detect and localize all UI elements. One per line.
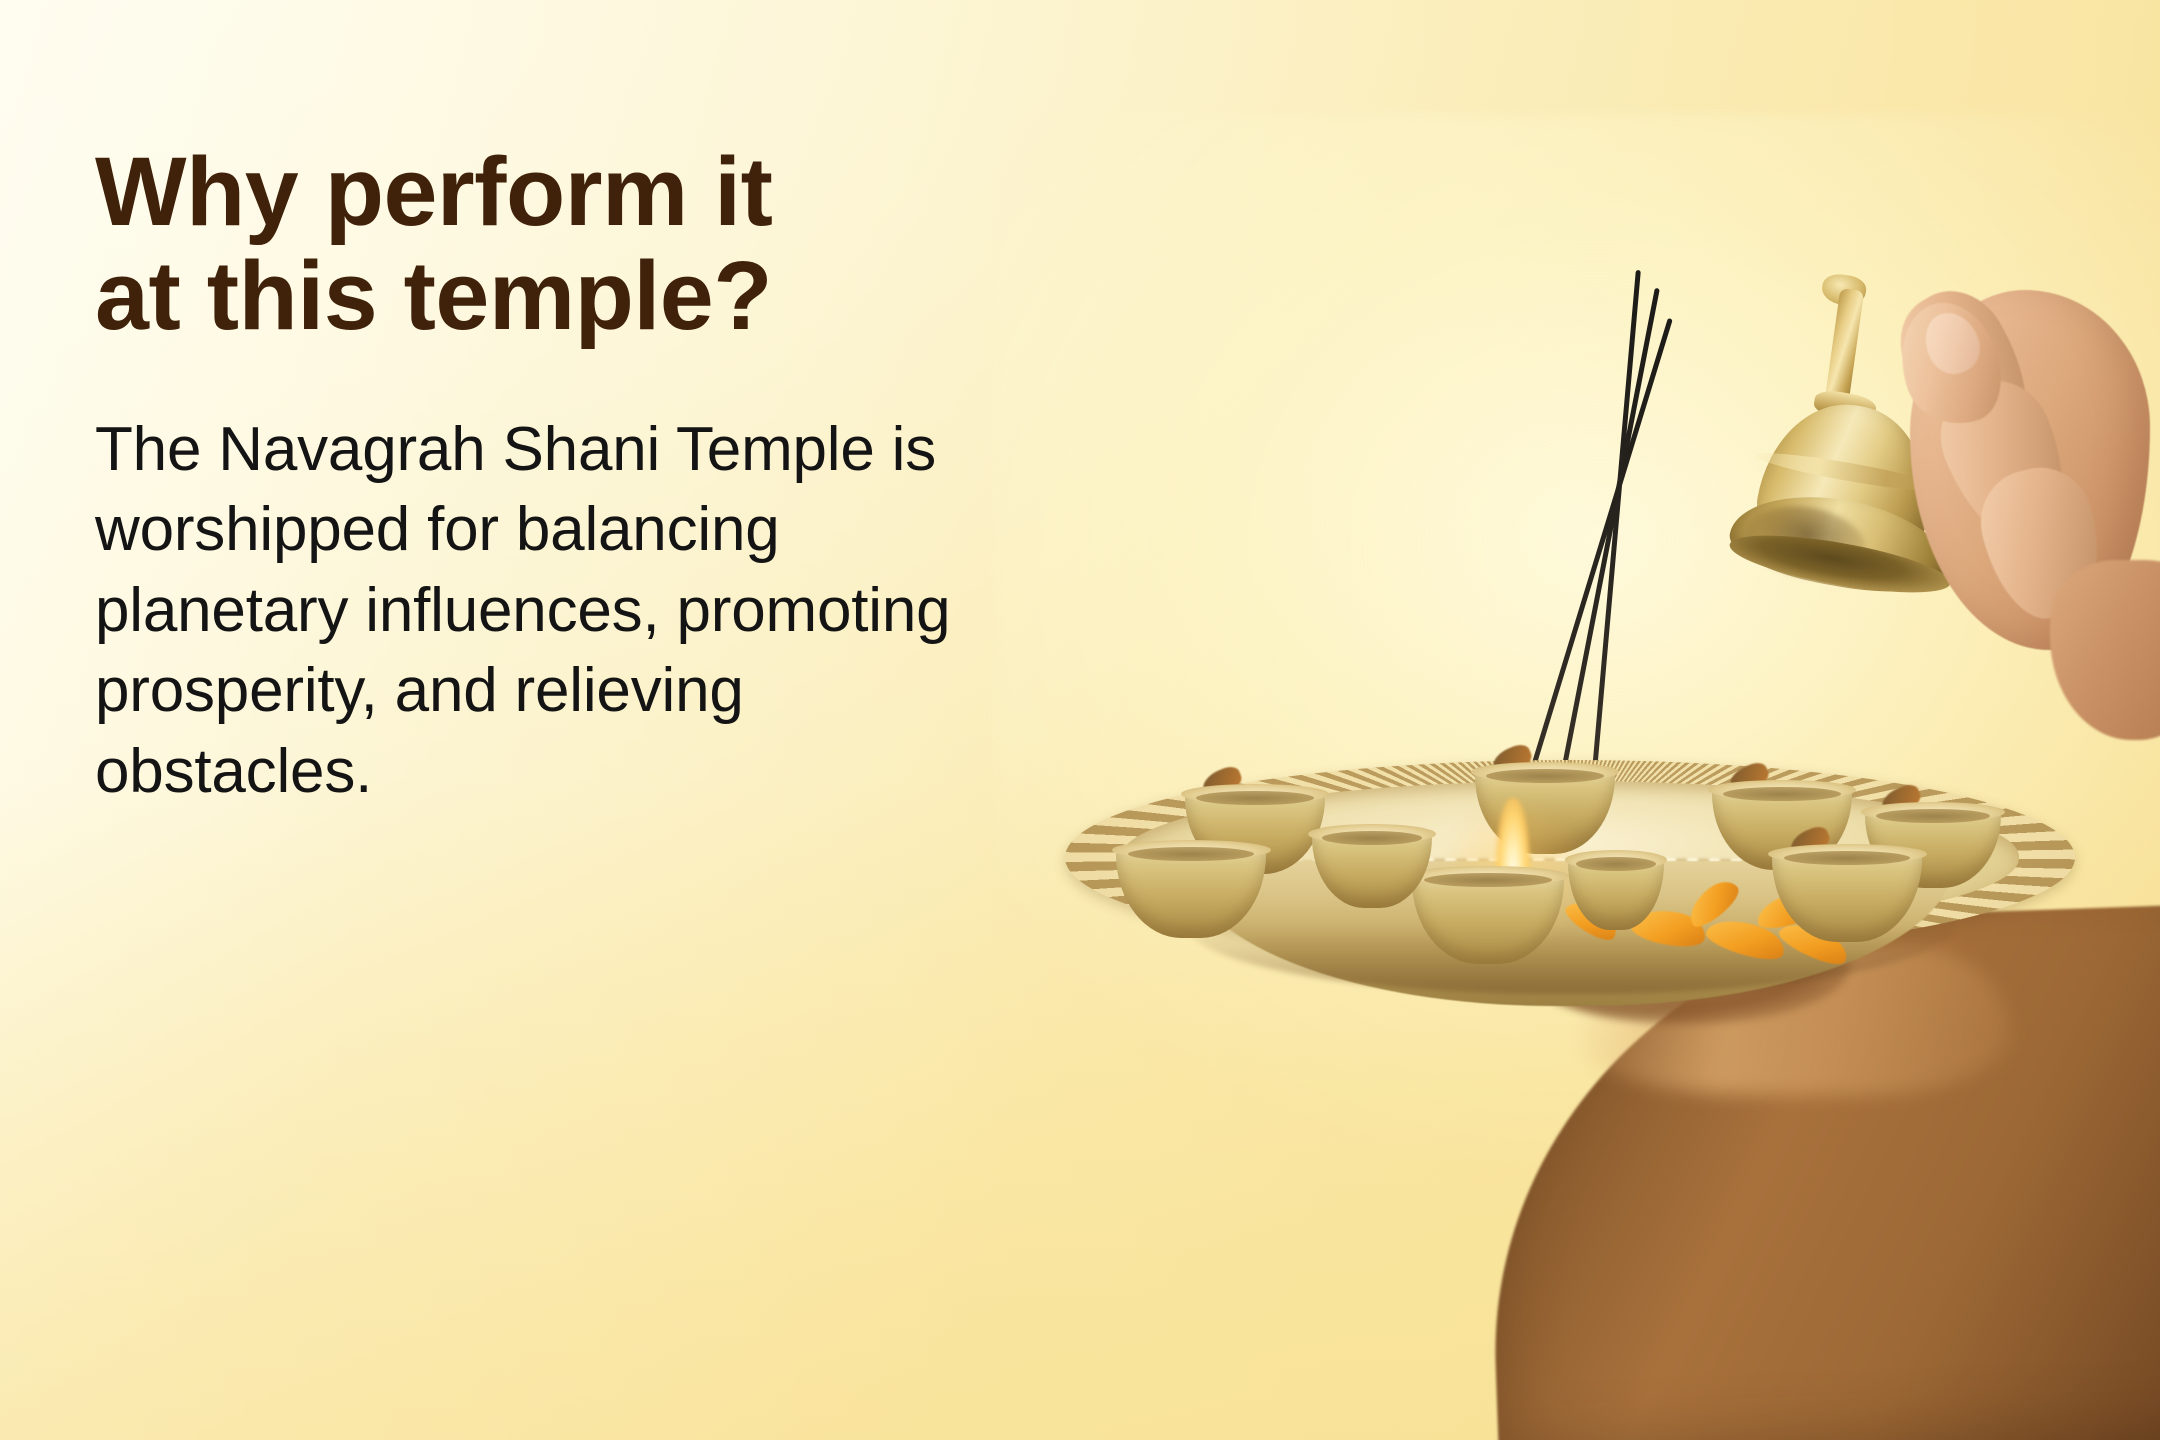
page-title: Why perform it at this temple? [95,140,1045,348]
body-paragraph: The Navagrah Shani Temple is worshipped … [95,410,1010,813]
diya-lamp [1772,850,1922,942]
slide-canvas: Why perform it at this temple? The Navag… [0,0,2160,1440]
diya-mouth [1486,769,1604,783]
incense-stick-1 [1510,318,1673,836]
diya-mouth [1723,787,1841,801]
wrist [2050,560,2160,740]
diya-lamp [1116,846,1266,938]
diya-mouth [1128,847,1254,861]
bell-holding-hand [1880,260,2160,690]
diya-mouth [1196,791,1314,805]
incense-stick-2 [1548,288,1660,839]
diya-lamp [1568,856,1664,930]
text-column: Why perform it at this temple? The Navag… [95,140,1045,813]
diya-mouth [1322,831,1423,845]
diya-mouth [1876,809,1990,823]
diya-mouth [1784,851,1910,865]
diya-lamp [1412,872,1564,964]
diya-lamp [1312,830,1432,908]
pooja-photo [1020,0,2160,1440]
diya-mouth [1576,857,1657,871]
diya-mouth [1424,873,1552,887]
